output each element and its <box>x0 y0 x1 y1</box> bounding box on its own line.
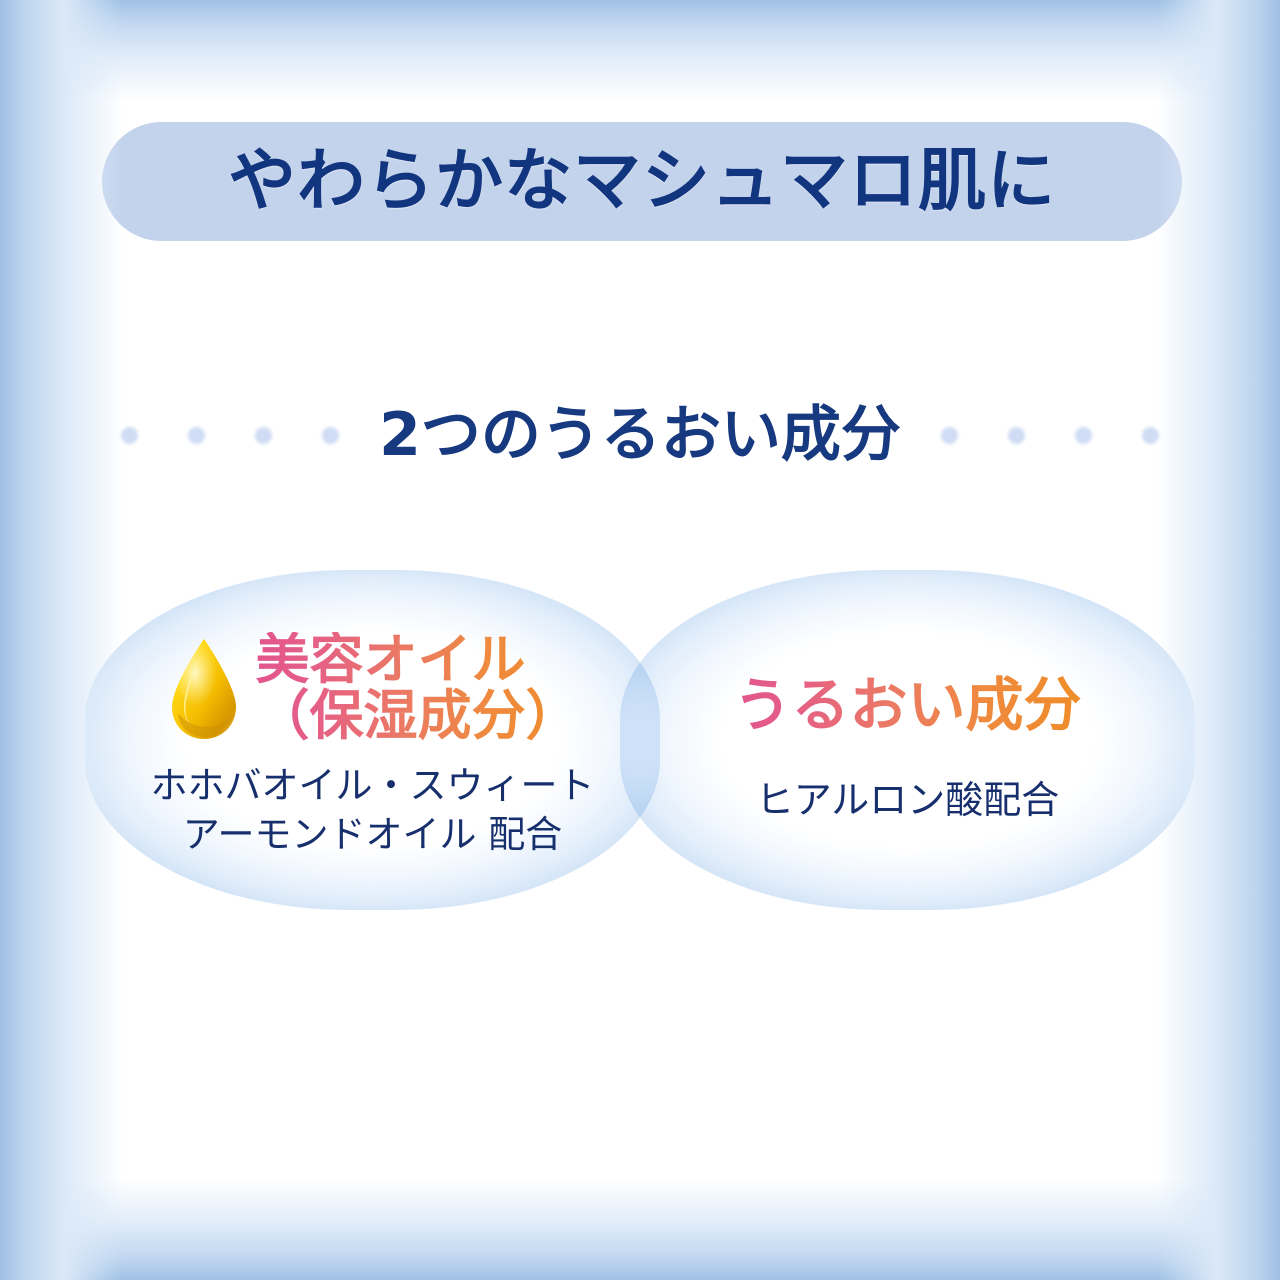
promo-canvas: 美容オイル （保湿成分） ホホバオイル・スウィート アーモンドオイル 配合 うる… <box>0 0 1280 1280</box>
beauty-oil-caption: ホホバオイル・スウィート アーモンドオイル 配合 <box>151 762 595 860</box>
page-title: やわらかなマシュマロ肌に <box>228 148 1056 216</box>
decorative-dots-right <box>941 427 1177 444</box>
frame-glow-bottom <box>0 1160 1280 1280</box>
decorative-dot <box>941 427 958 444</box>
decorative-dot <box>188 427 205 444</box>
ingredient-ovals-area: 美容オイル （保湿成分） ホホバオイル・スウィート アーモンドオイル 配合 うる… <box>0 560 1280 920</box>
ingredient-card-moisture: うるおい成分 ヒアルロン酸配合 <box>620 570 1195 920</box>
beauty-oil-heading: 美容オイル （保湿成分） <box>256 632 580 744</box>
subtitle: 2つのうるおい成分 <box>379 405 901 465</box>
beauty-oil-headline-row: 美容オイル （保湿成分） <box>166 632 580 744</box>
header-banner: やわらかなマシュマロ肌に <box>102 122 1182 241</box>
beauty-oil-heading-line-2: （保湿成分） <box>256 688 580 744</box>
beauty-oil-caption-line-2: アーモンドオイル 配合 <box>151 811 595 860</box>
decorative-dot <box>121 427 138 444</box>
decorative-dot <box>1008 427 1025 444</box>
beauty-oil-heading-line-1: 美容オイル <box>256 632 580 688</box>
beauty-oil-caption-line-1: ホホバオイル・スウィート <box>151 762 595 811</box>
decorative-dot <box>1075 427 1092 444</box>
decorative-dots-left <box>103 427 339 444</box>
decorative-dot <box>255 427 272 444</box>
moisture-caption: ヒアルロン酸配合 <box>756 775 1060 825</box>
decorative-dot <box>1142 427 1159 444</box>
moisture-heading: うるおい成分 <box>733 675 1081 735</box>
oil-drop-icon <box>166 637 242 741</box>
subtitle-row: 2つのうるおい成分 <box>0 385 1280 485</box>
decorative-dot <box>322 427 339 444</box>
ingredient-card-beauty-oil: 美容オイル （保湿成分） ホホバオイル・スウィート アーモンドオイル 配合 <box>85 570 660 916</box>
frame-glow-top <box>0 0 1280 120</box>
